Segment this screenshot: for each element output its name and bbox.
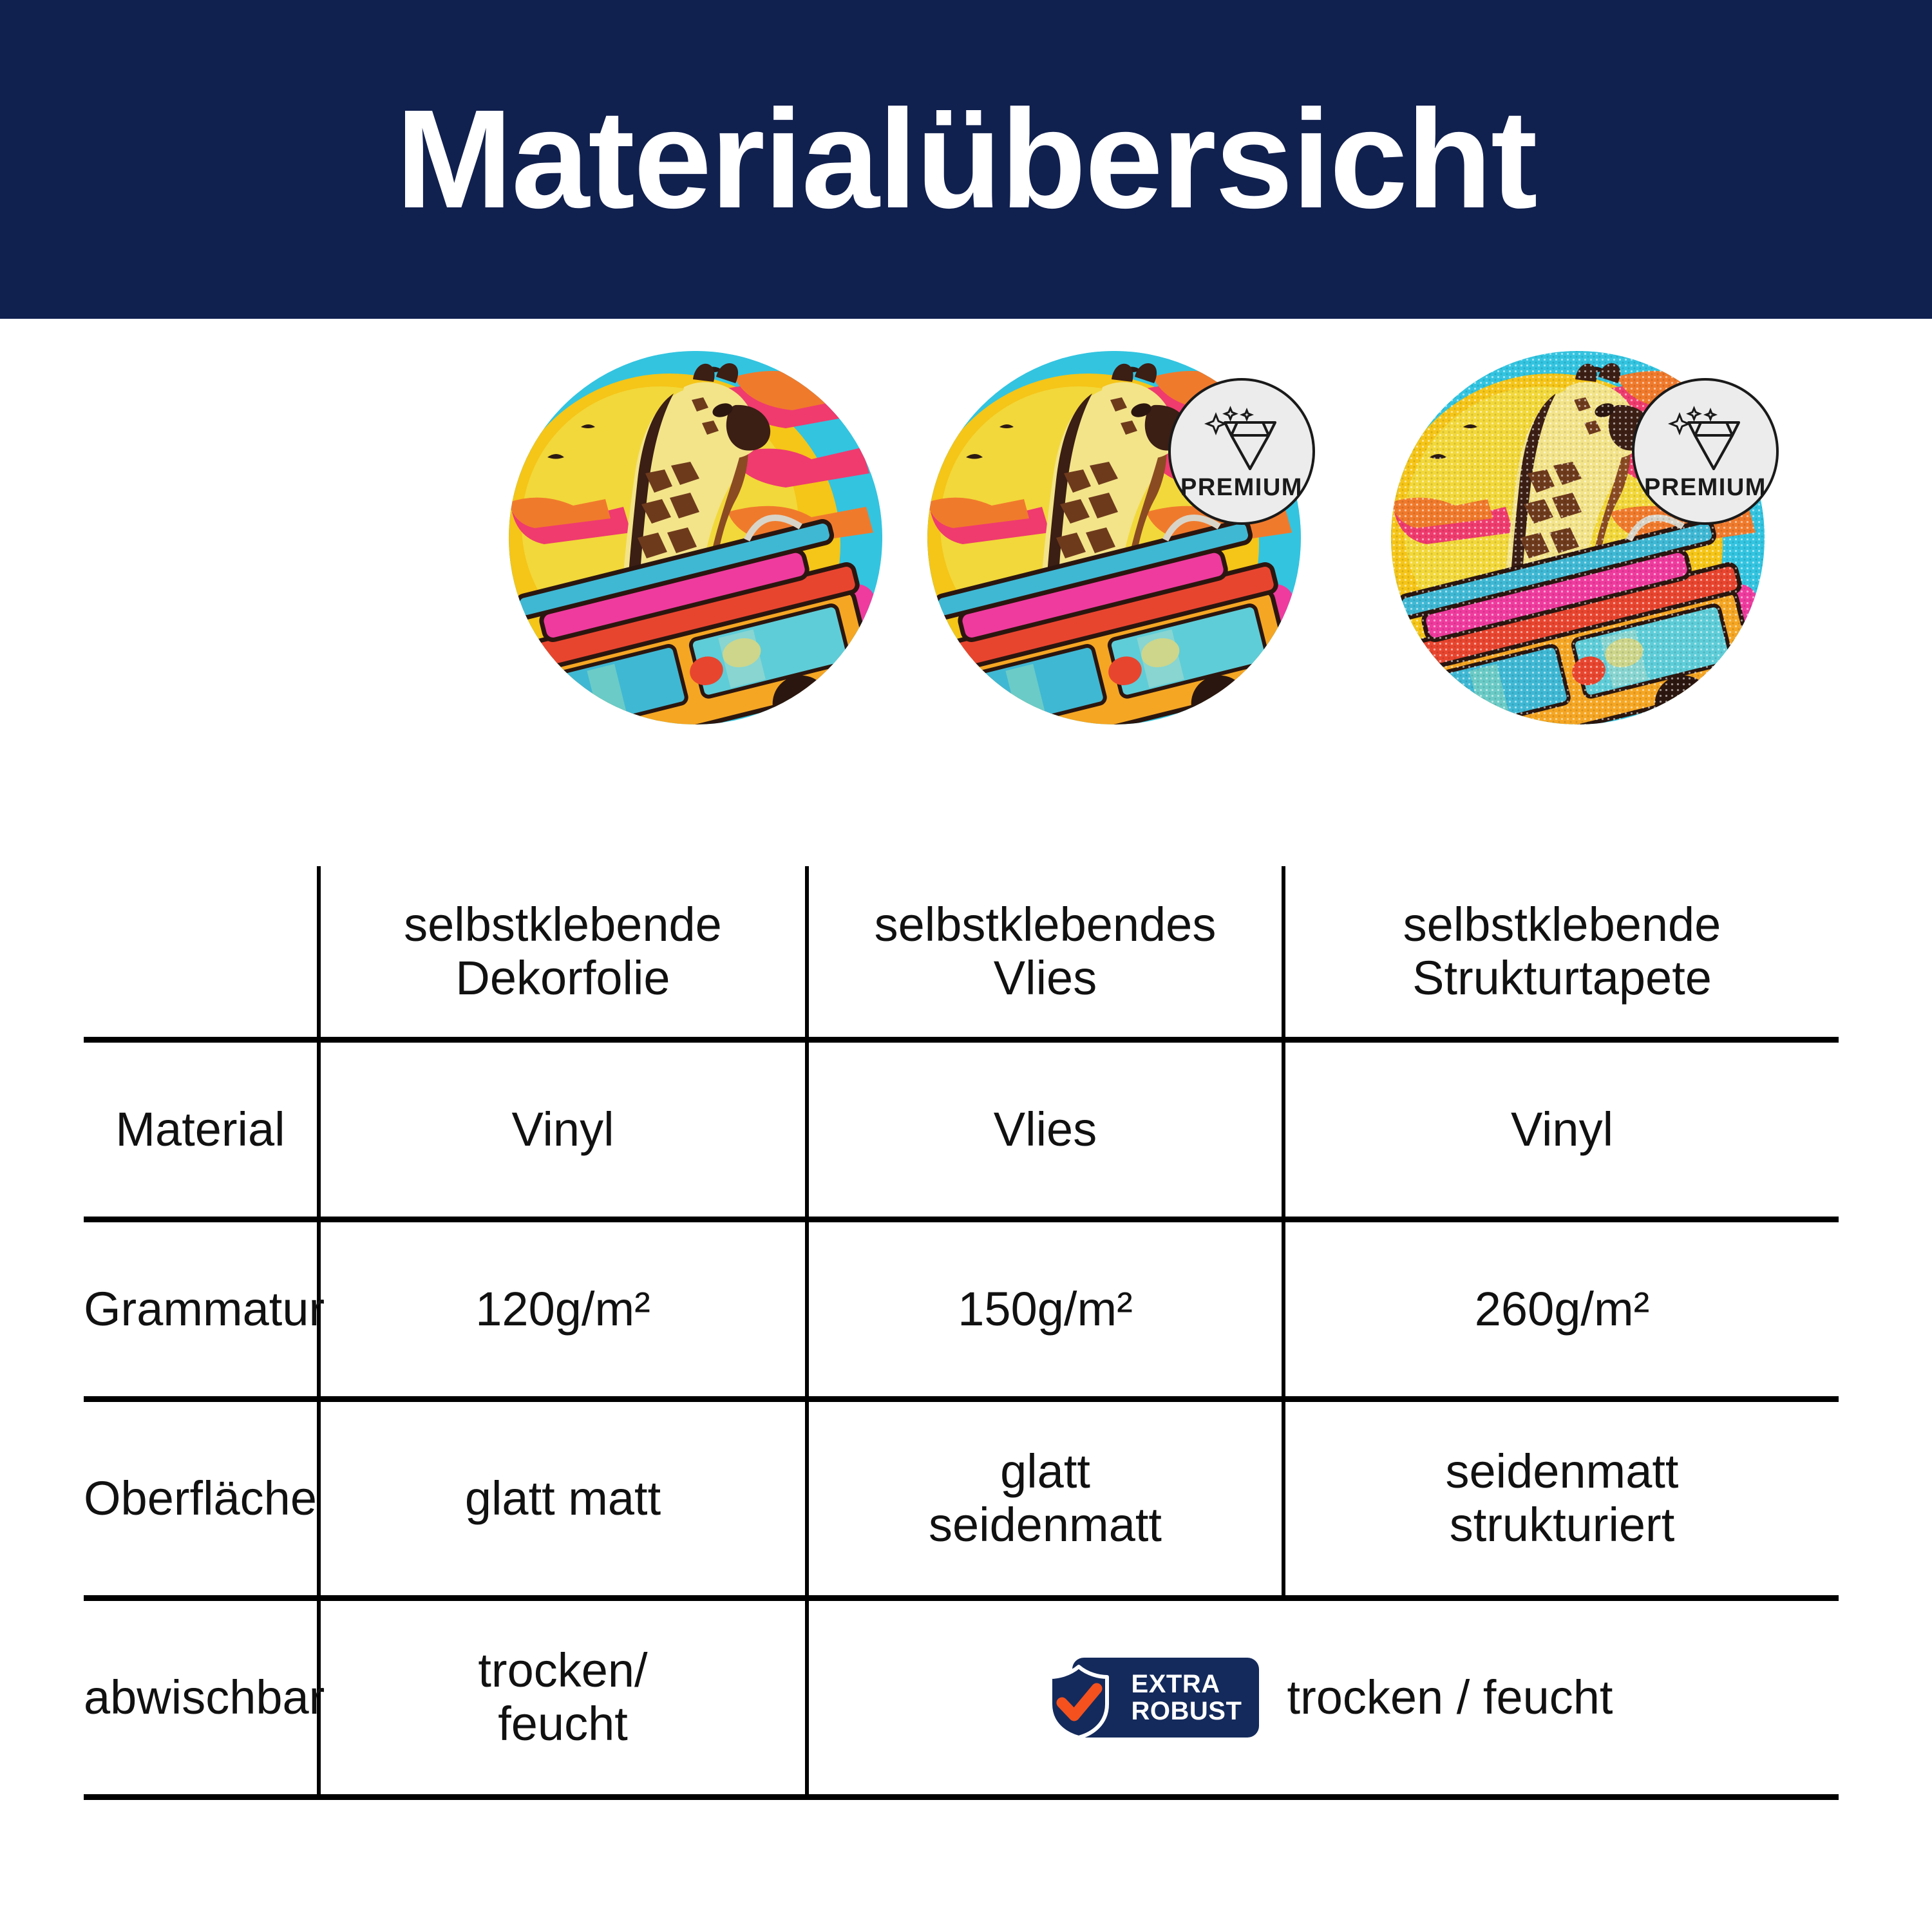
cell-oberflaeche-strukturtapete: seidenmatt strukturiert [1283, 1399, 1839, 1598]
row-label-grammatur: Grammatur [84, 1220, 319, 1399]
diamond-icon [1203, 406, 1280, 473]
cell-abwischbar-merged: EXTRA ROBUST trocken / feucht [807, 1598, 1839, 1797]
header-cell-strukturtapete: selbstklebende Strukturtapete [1283, 866, 1839, 1040]
value-line-2: feucht [321, 1698, 805, 1751]
value-line-2: seidenmatt [809, 1499, 1282, 1552]
table-row-material: Material Vinyl Vlies Vinyl [84, 1040, 1839, 1220]
cell-grammatur-dekorfolie: 120g/m² [319, 1220, 807, 1399]
cell-oberflaeche-dekorfolie: glatt matt [319, 1399, 807, 1598]
premium-badge: PREMIUM [1168, 378, 1315, 525]
value-line-2: strukturiert [1285, 1499, 1839, 1552]
cell-abwischbar-merged-text: trocken / feucht [1287, 1671, 1613, 1725]
cell-material-vlies: Vlies [807, 1040, 1283, 1220]
row-label-material: Material [84, 1040, 319, 1220]
cell-abwischbar-dekorfolie: trocken/ feucht [319, 1598, 807, 1797]
row-label-oberflaeche: Oberfläche [84, 1399, 319, 1598]
shield-check-icon [1045, 1664, 1112, 1740]
cell-grammatur-strukturtapete: 260g/m² [1283, 1220, 1839, 1399]
premium-badge-label: PREMIUM [1180, 474, 1303, 502]
header-line-2: Dekorfolie [321, 952, 805, 1005]
table-row-grammatur: Grammatur 120g/m² 150g/m² 260g/m² [84, 1220, 1839, 1399]
row-label-abwischbar: abwischbar [84, 1598, 319, 1797]
header-line-2: Strukturtapete [1285, 952, 1839, 1005]
header-cell-empty [84, 866, 319, 1040]
header-cell-dekorfolie: selbstklebende Dekorfolie [319, 866, 807, 1040]
header-line-1: selbstklebende [321, 898, 805, 952]
header-line-1: selbstklebendes [809, 898, 1282, 952]
header-line-2: Vlies [809, 952, 1282, 1005]
material-swatch-vlies[interactable]: PREMIUM [927, 351, 1301, 750]
extra-robust-badge: EXTRA ROBUST [1035, 1654, 1259, 1741]
value-line-1: trocken/ [321, 1644, 805, 1698]
header-line-1: selbstklebende [1285, 898, 1839, 952]
material-spec-table: selbstklebende Dekorfolie selbstklebende… [84, 866, 1839, 1800]
table-header-row: selbstklebende Dekorfolie selbstklebende… [84, 866, 1839, 1040]
material-swatch-row: PREMIUM [0, 351, 1932, 753]
premium-badge: PREMIUM [1632, 378, 1779, 525]
diamond-icon [1667, 406, 1744, 473]
product-image-dekorfolie [509, 351, 882, 724]
material-swatch-strukturtapete[interactable]: PREMIUM [1391, 351, 1765, 750]
robust-label-line-1: EXTRA [1132, 1671, 1220, 1698]
header-cell-vlies: selbstklebendes Vlies [807, 866, 1283, 1040]
cell-material-dekorfolie: Vinyl [319, 1040, 807, 1220]
value-line-1: glatt [809, 1445, 1282, 1499]
cell-oberflaeche-vlies: glatt seidenmatt [807, 1399, 1283, 1598]
cell-material-strukturtapete: Vinyl [1283, 1040, 1839, 1220]
page-title: Materialübersicht [395, 90, 1536, 230]
robust-label-line-2: ROBUST [1132, 1698, 1242, 1725]
page-header: Materialübersicht [0, 0, 1932, 319]
premium-badge-label: PREMIUM [1644, 474, 1766, 502]
table-row-oberflaeche: Oberfläche glatt matt glatt seidenmatt s… [84, 1399, 1839, 1598]
cell-grammatur-vlies: 150g/m² [807, 1220, 1283, 1399]
value-line-1: seidenmatt [1285, 1445, 1839, 1499]
table-row-abwischbar: abwischbar trocken/ feucht EXTRA ROBUST [84, 1598, 1839, 1797]
material-swatch-dekorfolie[interactable] [509, 351, 882, 750]
